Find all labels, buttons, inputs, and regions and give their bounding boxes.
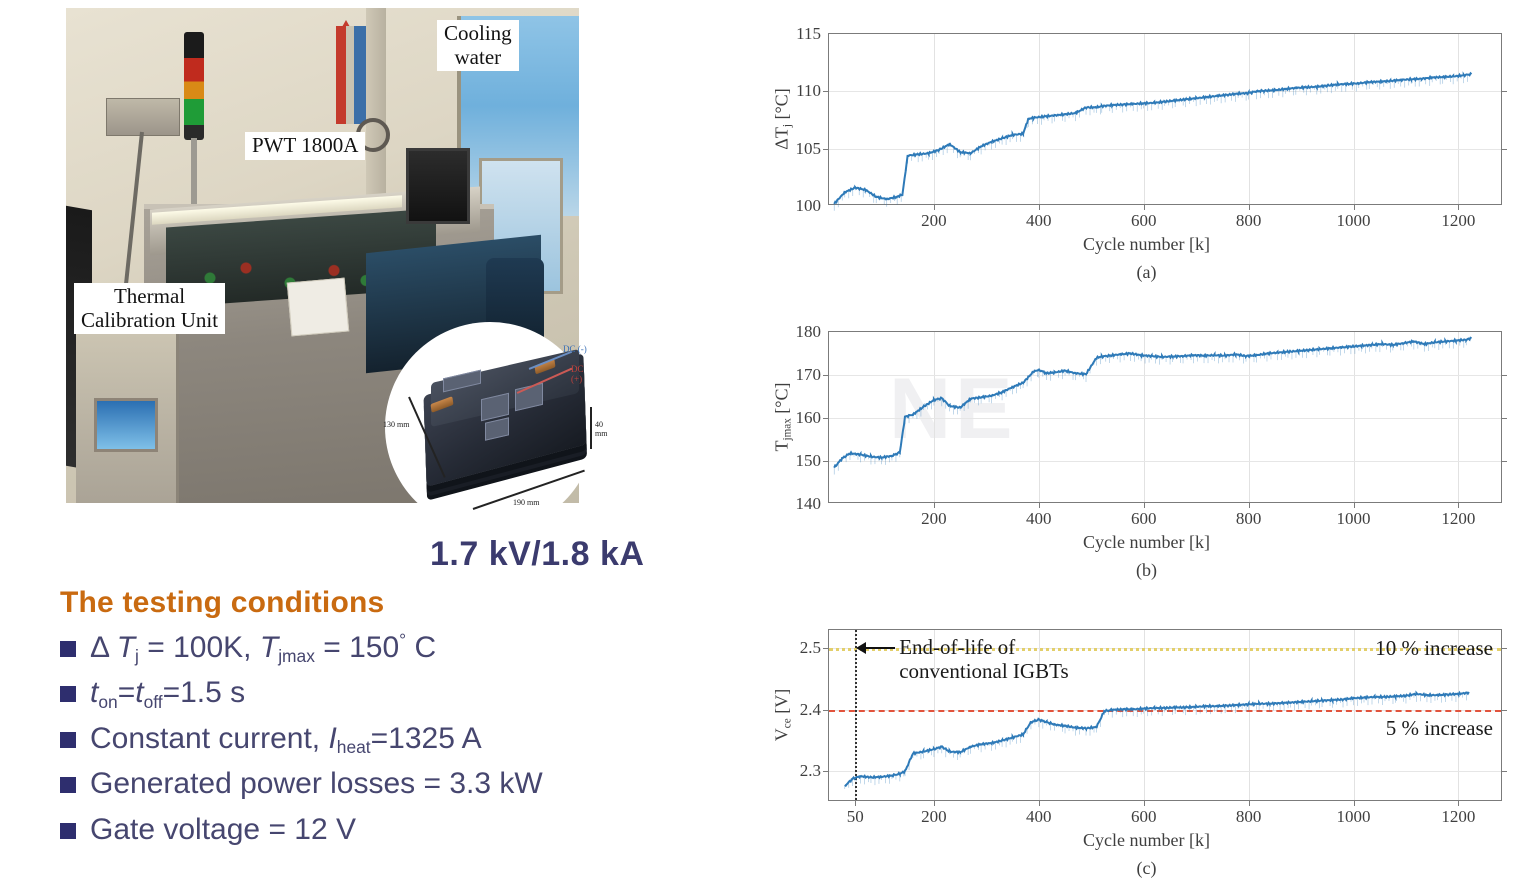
x-tick-label: 1200 bbox=[1441, 807, 1475, 827]
series-trace-a bbox=[829, 34, 1503, 206]
igbt-module-inset: DC (-) DC (+) 40 mm 130 mm 190 mm bbox=[385, 322, 595, 532]
chart-panel-a: 20040060080010001200100105110115ΔTj [°C]… bbox=[760, 0, 1533, 300]
photo-label-thermal-calibration-unit: Thermal Calibration Unit bbox=[74, 283, 225, 334]
module-rating-text: 1.7 kV/1.8 kA bbox=[430, 535, 644, 574]
condition-item-2: ton=toff=1.5 s bbox=[60, 675, 750, 710]
x-tick-label: 1200 bbox=[1441, 509, 1475, 529]
chart-panel-c: 50200400600800100012002.32.42.5End-of-li… bbox=[760, 596, 1533, 894]
bullet-square-icon bbox=[60, 777, 76, 793]
panel-label-c: (c) bbox=[760, 858, 1533, 879]
x-tick-label: 800 bbox=[1236, 509, 1262, 529]
y-tick-label: 140 bbox=[796, 494, 822, 514]
cooling-pipes bbox=[336, 26, 366, 124]
tester-paper-sheet bbox=[287, 278, 349, 337]
condition-text: ton=toff=1.5 s bbox=[90, 675, 245, 710]
x-axis-title-a: Cycle number [k] bbox=[760, 234, 1533, 255]
dc-negative-label: DC (-) bbox=[563, 344, 587, 354]
panel-label-b: (b) bbox=[760, 560, 1533, 581]
y-tick-label: 105 bbox=[796, 139, 822, 159]
signal-tower-icon bbox=[184, 32, 204, 140]
x-tick-label: 600 bbox=[1131, 807, 1157, 827]
x-tick-label: 400 bbox=[1026, 211, 1052, 231]
x-tick-label: 200 bbox=[921, 807, 947, 827]
x-tick-label: 800 bbox=[1236, 211, 1262, 231]
x-tick-label: 400 bbox=[1026, 807, 1052, 827]
x-axis-title-c: Cycle number [k] bbox=[760, 830, 1533, 851]
plot-area-a: 20040060080010001200100105110115 bbox=[828, 33, 1502, 205]
condition-text: Generated power losses = 3.3 kW bbox=[90, 766, 543, 801]
x-tick-label: 1200 bbox=[1441, 211, 1475, 231]
x-tick-label: 200 bbox=[921, 211, 947, 231]
calibration-unit-screen bbox=[94, 398, 158, 452]
y-tick-label: 170 bbox=[796, 365, 822, 385]
y-tick-label: 2.4 bbox=[800, 700, 821, 720]
signal-tower-pole bbox=[191, 138, 197, 210]
panel-label-a: (a) bbox=[760, 262, 1533, 283]
dimension-width-label: 130 mm bbox=[383, 420, 409, 429]
bullet-square-icon bbox=[60, 732, 76, 748]
charts-panel: 20040060080010001200100105110115ΔTj [°C]… bbox=[760, 0, 1533, 894]
y-tick-label: 2.5 bbox=[800, 638, 821, 658]
y-tick-label: 110 bbox=[796, 81, 821, 101]
x-tick-label: 400 bbox=[1026, 509, 1052, 529]
series-trace-c bbox=[829, 630, 1503, 802]
dimension-height-label: 40 mm bbox=[595, 420, 607, 438]
series-trace-b bbox=[829, 332, 1503, 504]
plot-area-c: 50200400600800100012002.32.42.5End-of-li… bbox=[828, 629, 1502, 801]
photo-wall-box bbox=[106, 98, 180, 136]
y-axis-title-b: Tjmax [°C] bbox=[772, 382, 793, 451]
x-tick-label: 800 bbox=[1236, 807, 1262, 827]
bullet-square-icon bbox=[60, 641, 76, 657]
left-panel: Cooling water PWT 1800A Thermal Calibrat… bbox=[0, 0, 760, 894]
condition-item-5: Gate voltage = 12 V bbox=[60, 812, 750, 847]
y-tick-label: 180 bbox=[796, 322, 822, 342]
y-axis-title-a: ΔTj [°C] bbox=[772, 88, 793, 149]
condition-item-3: Constant current, Iheat=1325 A bbox=[60, 721, 750, 756]
x-tick-label: 200 bbox=[921, 509, 947, 529]
y-tick-label: 150 bbox=[796, 451, 822, 471]
condition-item-1: Δ Tj = 100K, Tjmax = 150° C bbox=[60, 630, 750, 665]
x-tick-label: 50 bbox=[847, 807, 864, 827]
condition-text: Δ Tj = 100K, Tjmax = 150° C bbox=[90, 630, 436, 665]
x-tick-label: 1000 bbox=[1337, 211, 1371, 231]
y-tick-label: 2.3 bbox=[800, 761, 821, 781]
y-axis-title-c: Vce [V] bbox=[772, 689, 793, 741]
photo-label-cooling-water: Cooling water bbox=[437, 20, 519, 71]
dc-positive-label: DC (+) bbox=[571, 364, 595, 384]
x-tick-label: 600 bbox=[1131, 509, 1157, 529]
chart-panel-b: NE20040060080010001200140150160170180Tjm… bbox=[760, 298, 1533, 596]
condition-text: Constant current, Iheat=1325 A bbox=[90, 721, 482, 756]
x-tick-label: 1000 bbox=[1337, 807, 1371, 827]
bullet-square-icon bbox=[60, 686, 76, 702]
y-tick-label: 160 bbox=[796, 408, 822, 428]
testing-conditions-list: Δ Tj = 100K, Tjmax = 150° Cton=toff=1.5 … bbox=[60, 630, 750, 857]
y-tick-label: 100 bbox=[796, 196, 822, 216]
photo-label-pwt-1800a: PWT 1800A bbox=[245, 132, 365, 160]
photo-monitor bbox=[406, 148, 470, 224]
y-tick-label: 115 bbox=[796, 24, 821, 44]
x-axis-title-b: Cycle number [k] bbox=[760, 532, 1533, 553]
testing-conditions-title: The testing conditions bbox=[60, 586, 384, 620]
dimension-depth-label: 190 mm bbox=[513, 498, 539, 507]
dimension-height-line bbox=[590, 407, 592, 449]
condition-item-4: Generated power losses = 3.3 kW bbox=[60, 766, 750, 801]
x-tick-label: 600 bbox=[1131, 211, 1157, 231]
x-tick-label: 1000 bbox=[1337, 509, 1371, 529]
photo-beam bbox=[366, 8, 386, 218]
condition-text: Gate voltage = 12 V bbox=[90, 812, 356, 847]
bullet-square-icon bbox=[60, 823, 76, 839]
plot-area-b: NE20040060080010001200140150160170180 bbox=[828, 331, 1502, 503]
